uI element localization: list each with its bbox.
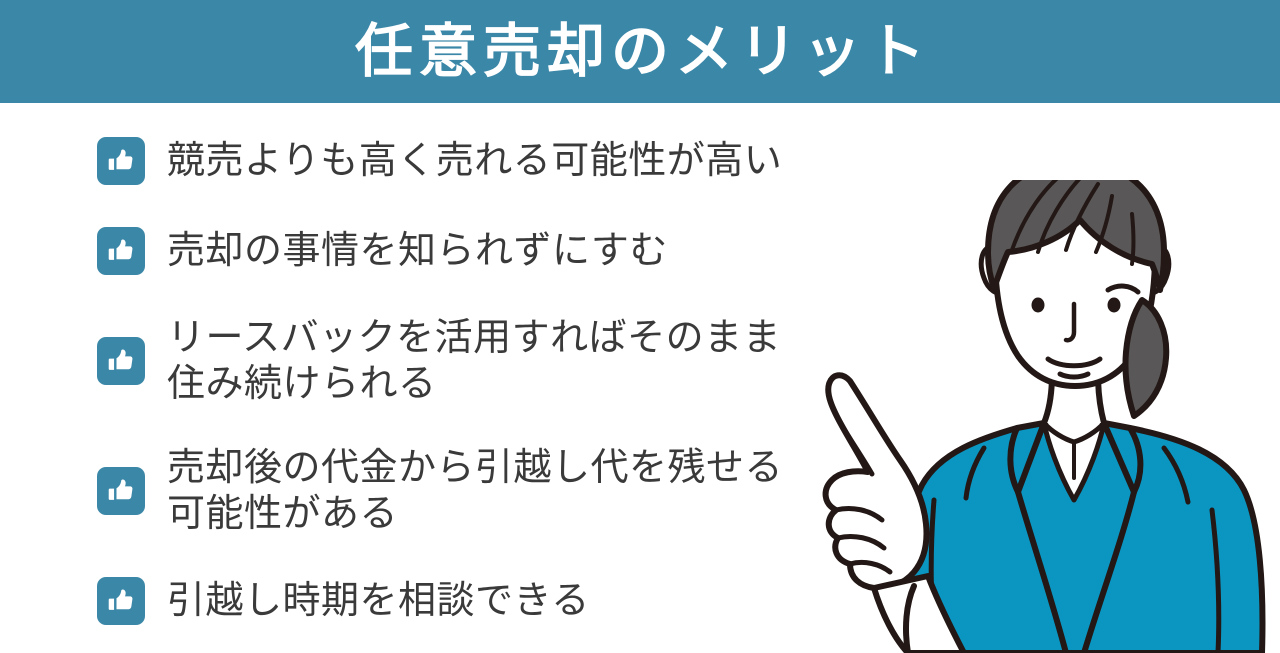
list-item: リースバックを活用すればそのまま 住み続けられる bbox=[97, 299, 781, 423]
slide-canvas: 任意売却のメリット 競売よりも高く売れる可能性が高い 売却の事情を知られずにすむ bbox=[0, 0, 1280, 653]
list-item: 競売よりも高く売れる可能性が高い bbox=[97, 119, 782, 203]
header-bar: 任意売却のメリット bbox=[0, 0, 1280, 103]
thumbs-up-icon bbox=[97, 467, 145, 515]
list-item-label: リースバックを活用すればそのまま 住み続けられる bbox=[167, 315, 781, 407]
page-title: 任意売却のメリット bbox=[349, 23, 931, 81]
thumbs-up-icon bbox=[97, 227, 145, 275]
list-item-label: 売却の事情を知られずにすむ bbox=[167, 228, 668, 274]
list-item-label: 売却後の代金から引越し代を残せる 可能性がある bbox=[167, 445, 783, 537]
businesswoman-pointing-up-illustration bbox=[812, 180, 1280, 653]
thumbs-up-icon bbox=[97, 577, 145, 625]
thumbs-up-icon bbox=[97, 337, 145, 385]
list-item: 売却後の代金から引越し代を残せる 可能性がある bbox=[97, 429, 783, 553]
list-item-label: 競売よりも高く売れる可能性が高い bbox=[167, 138, 782, 184]
thumbs-up-icon bbox=[97, 137, 145, 185]
list-item: 引越し時期を相談できる bbox=[97, 559, 590, 643]
benefit-list: 競売よりも高く売れる可能性が高い 売却の事情を知られずにすむ リースバックを活用… bbox=[0, 103, 860, 653]
list-item-label: 引越し時期を相談できる bbox=[167, 578, 590, 624]
list-item: 売却の事情を知られずにすむ bbox=[97, 209, 668, 293]
